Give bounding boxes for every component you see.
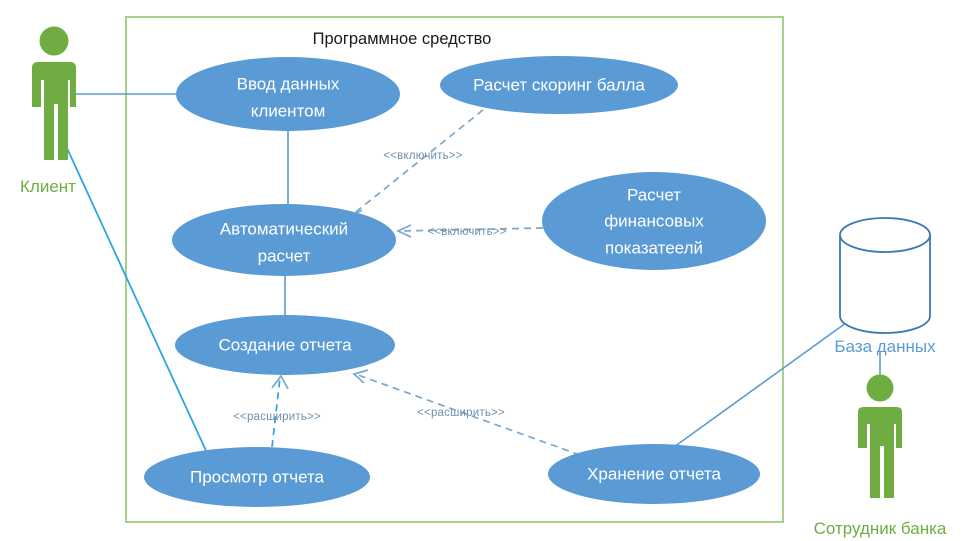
use-case-label-line-1: Создание отчета xyxy=(218,335,352,354)
use-case-label-line-1: Расчет скоринг балла xyxy=(473,75,645,94)
relationship-extend-view: <<расширить>> xyxy=(233,376,321,447)
use-case-input-client-data[interactable]: Ввод данных клиентом xyxy=(176,57,400,131)
use-case-label-line-1: Автоматический xyxy=(220,219,348,238)
use-case-view-report[interactable]: Просмотр отчета xyxy=(144,447,370,507)
association-store-report-to-database xyxy=(667,315,857,452)
actor-bank-employee[interactable]: Сотрудник банка xyxy=(814,375,947,539)
database-cylinder-top-icon xyxy=(840,218,930,252)
relationship-extend-store: <<расширить>> xyxy=(354,370,580,455)
use-case-automatic-calculation[interactable]: Автоматический расчет xyxy=(172,204,396,276)
actor-label-bank-employee: Сотрудник банка xyxy=(814,519,947,538)
database-node[interactable]: База данных xyxy=(834,218,936,356)
use-case-label-line-3: показатеелй xyxy=(605,238,703,257)
stereotype-label-include-scoring: <<включить>> xyxy=(383,150,462,162)
actor-label-client: Клиент xyxy=(20,177,76,196)
use-case-financial-indicators[interactable]: Расчет финансовых показатеелй xyxy=(542,172,766,270)
association-client-to-view-report xyxy=(66,146,208,455)
stereotype-label-include-findic: <<включить>> xyxy=(427,226,506,238)
use-case-diagram-canvas: Программное средство <<включить>> <<вклю… xyxy=(0,0,973,541)
use-case-label-line-2: клиентом xyxy=(251,101,326,120)
use-case-label-line-1: Хранение отчета xyxy=(587,464,721,483)
database-label: База данных xyxy=(834,337,936,356)
actor-body-icon xyxy=(858,407,902,498)
diagram-svg: Программное средство <<включить>> <<вклю… xyxy=(0,0,973,541)
stereotype-label-extend-store: <<расширить>> xyxy=(417,407,505,419)
use-case-label-line-1: Расчет xyxy=(627,185,681,204)
system-boundary-title: Программное средство xyxy=(313,30,492,48)
use-case-scoring-calculation[interactable]: Расчет скоринг балла xyxy=(440,56,678,114)
use-case-label-line-1: Просмотр отчета xyxy=(190,467,325,486)
relationship-include-scoring: <<включить>> xyxy=(348,110,483,224)
actor-head-icon xyxy=(867,375,894,402)
use-case-create-report[interactable]: Создание отчета xyxy=(175,315,395,375)
stereotype-label-extend-view: <<расширить>> xyxy=(233,411,321,423)
relationship-include-findic: <<включить>> xyxy=(398,225,543,238)
use-case-label-line-2: финансовых xyxy=(604,211,704,230)
actor-client[interactable]: Клиент xyxy=(20,27,76,197)
use-case-store-report[interactable]: Хранение отчета xyxy=(548,444,760,504)
actor-head-icon xyxy=(40,27,69,56)
use-case-label-line-1: Ввод данных xyxy=(237,74,340,93)
use-case-label-line-2: расчет xyxy=(258,246,311,265)
actor-body-icon xyxy=(32,62,76,160)
